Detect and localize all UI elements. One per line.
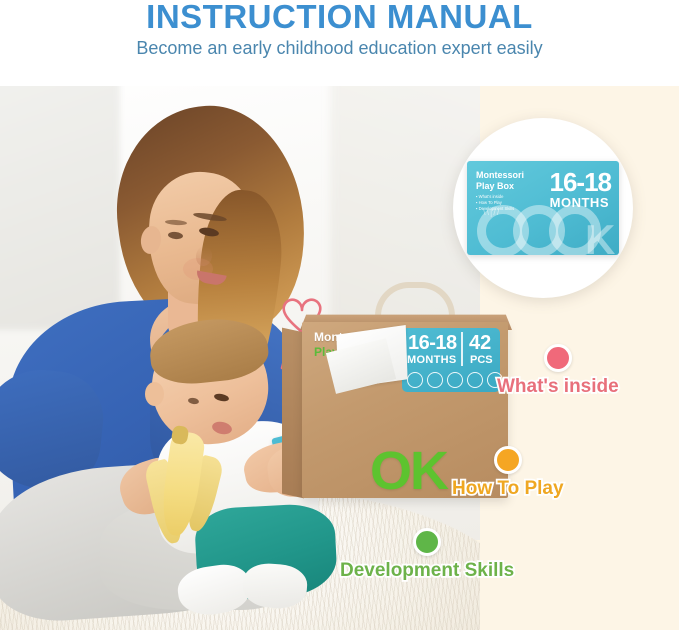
box-age-range: 16-18 bbox=[408, 332, 457, 355]
washable-icon bbox=[447, 372, 463, 388]
callout-dot-orange bbox=[494, 446, 522, 474]
inset-booklet-cover: Montessori Play Box What's inside How To… bbox=[467, 161, 619, 255]
callout-label-development-skills: Development Skills bbox=[340, 560, 514, 582]
callout-development-skills[interactable]: Development Skills bbox=[340, 528, 514, 582]
nontoxic-icon bbox=[467, 372, 483, 388]
box-age-unit: MONTHS bbox=[407, 354, 456, 366]
page-subtitle: Become an early childhood education expe… bbox=[0, 38, 679, 59]
callout-label-whats-inside: What's inside bbox=[497, 376, 619, 398]
callout-how-to-play[interactable]: How To Play bbox=[452, 446, 564, 500]
inset-brand-line1: Montessori bbox=[476, 170, 524, 181]
wordmark-letter-k: K bbox=[585, 223, 615, 255]
box-logo: OK bbox=[370, 440, 447, 502]
inset-age-range: 16-18 bbox=[550, 167, 612, 198]
box-spec-label: 16-18 MONTHS 42 PCS bbox=[402, 328, 500, 392]
wall-panel-left bbox=[0, 70, 120, 330]
baby-ear bbox=[145, 382, 164, 406]
box-side-panel bbox=[282, 328, 304, 499]
callout-dot-pink bbox=[544, 344, 572, 372]
inset-brand-line2: Play Box bbox=[476, 181, 524, 192]
box-icon-row bbox=[407, 372, 503, 388]
page-canvas: Montessori Montessori Play Box 16-18 MON… bbox=[0, 0, 679, 630]
inset-brand: Montessori Play Box bbox=[476, 170, 524, 192]
inset-wordmark: K bbox=[473, 211, 619, 255]
box-piece-unit: PCS bbox=[470, 354, 493, 366]
eco-icon bbox=[427, 372, 443, 388]
box-piece-count: 42 bbox=[469, 332, 491, 355]
box-label-divider bbox=[461, 332, 463, 366]
safety-icon bbox=[407, 372, 423, 388]
page-title: INSTRUCTION MANUAL bbox=[0, 0, 679, 36]
callout-label-how-to-play: How To Play bbox=[452, 478, 564, 500]
header-band: INSTRUCTION MANUAL Become an early child… bbox=[0, 0, 679, 86]
callout-whats-inside[interactable]: What's inside bbox=[497, 344, 619, 398]
callout-dot-green bbox=[413, 528, 441, 556]
product-closeup-inset: Montessori Play Box What's inside How To… bbox=[453, 118, 633, 298]
